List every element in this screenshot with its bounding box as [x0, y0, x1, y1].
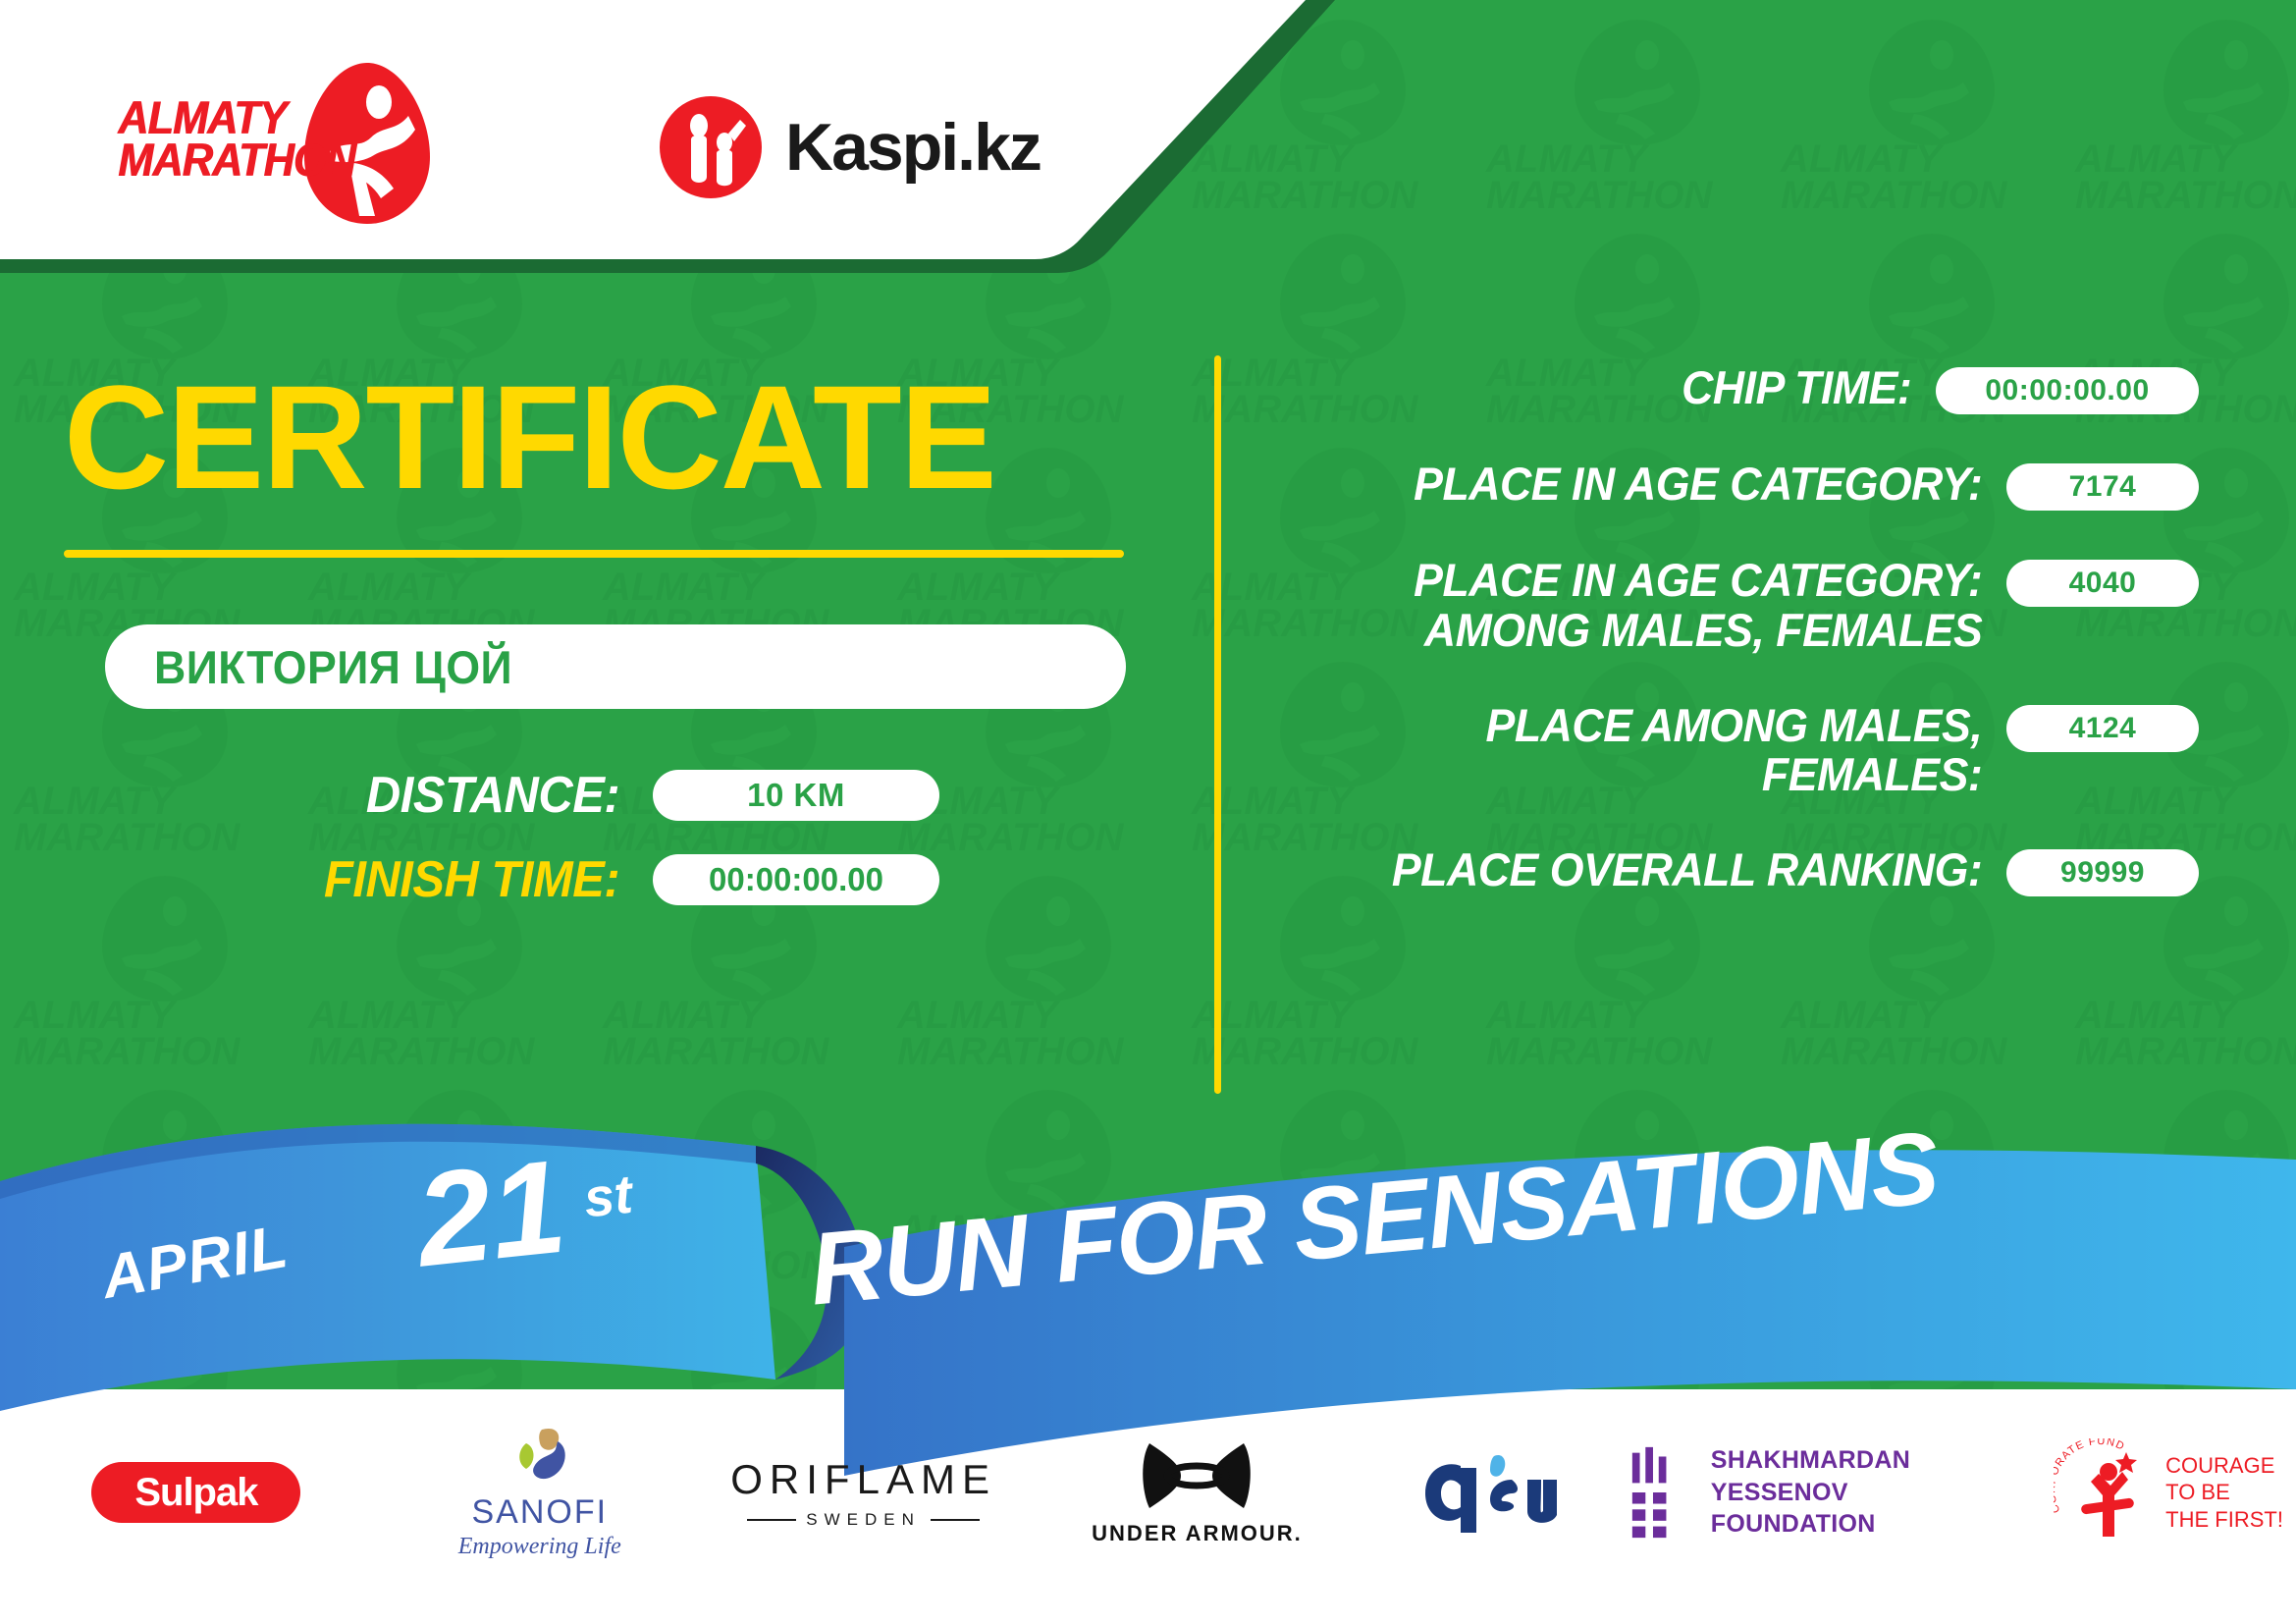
yessenov-line-1: SHAKHMARDAN YESSENOV	[1711, 1444, 2041, 1508]
place-age-category-value: 7174	[2006, 463, 2199, 511]
oriflame-sub-row: SWEDEN	[730, 1510, 996, 1530]
sponsor-oriflame: ORIFLAME SWEDEN	[687, 1424, 1041, 1561]
place-age-category-gender-value: 4040	[2006, 560, 2199, 607]
kaspi-logo: Kaspi.kz	[658, 94, 1041, 200]
sanofi-tagline: Empowering Life	[458, 1534, 621, 1560]
distance-label: DISTANCE:	[90, 766, 653, 825]
courage-fund-wordmark: COURAGE TO BE THE FIRST!	[2165, 1452, 2283, 1534]
sponsor-courage-fund: CORPORATE FUND COURAGE TO BE THE FIRST!	[2041, 1424, 2296, 1561]
oriflame-rule-left	[747, 1519, 796, 1521]
under-armour-logo: UNDER ARMOUR.	[1092, 1439, 1303, 1546]
distance-value: 10 KM	[653, 770, 939, 821]
title-underline	[64, 550, 1124, 558]
column-divider	[1214, 355, 1221, 1094]
page-title: CERTIFICATE	[54, 363, 1123, 511]
certificate-left-column: CERTIFICATE ВИКТОРИЯ ЦОЙ DISTANCE: 10 KM…	[54, 363, 1134, 909]
place-overall-value: 99999	[2006, 849, 2199, 896]
almau-logo	[1417, 1450, 1565, 1535]
sponsor-bar: Sulpak SANOFI Empowering Life ORIFLAME S…	[0, 1414, 2296, 1571]
yessenov-logo: SHAKHMARDAN YESSENOV FOUNDATION	[1629, 1444, 2041, 1541]
label-line-1: PLACE AMONG MALES,	[1486, 699, 1983, 751]
oriflame-wordmark: ORIFLAME	[730, 1456, 996, 1503]
finish-time-label: FINISH TIME:	[90, 850, 653, 909]
kaspi-wordmark: Kaspi.kz	[785, 109, 1041, 186]
under-armour-mark-icon	[1138, 1439, 1255, 1512]
participant-name-field: ВИКТОРИЯ ЦОЙ	[105, 624, 1126, 709]
yessenov-mark-icon	[1629, 1445, 1689, 1540]
logo-line-marathon: MARATHON	[118, 138, 355, 182]
place-among-gender-label: PLACE AMONG MALES, FEMALES:	[1304, 701, 2006, 801]
yessenov-line-2: FOUNDATION	[1711, 1508, 2041, 1541]
participant-name: ВИКТОРИЯ ЦОЙ	[154, 640, 512, 694]
courage-line-3: THE FIRST!	[2165, 1506, 2283, 1534]
oriflame-country: SWEDEN	[806, 1510, 921, 1530]
results-column: CHIP TIME: 00:00:00.00 PLACE IN AGE CATE…	[1266, 363, 2199, 942]
sulpak-logo: Sulpak	[91, 1462, 300, 1523]
under-armour-wordmark: UNDER ARMOUR.	[1092, 1521, 1303, 1546]
label-line-2: FEMALES:	[1304, 750, 1983, 800]
almaty-marathon-logo: ALMATY MARATHON	[118, 67, 432, 229]
courage-fund-mark-icon: CORPORATE FUND	[2054, 1438, 2156, 1546]
sponsor-almau	[1354, 1424, 1629, 1561]
label-line-1: PLACE IN AGE CATEGORY:	[1414, 554, 1982, 606]
sanofi-logo: SANOFI Empowering Life	[458, 1426, 621, 1560]
sanofi-mark-icon	[505, 1426, 575, 1487]
place-age-category-gender-row: PLACE IN AGE CATEGORY: AMONG MALES, FEMA…	[1266, 556, 2199, 656]
chip-time-value: 00:00:00.00	[1936, 367, 2199, 414]
sponsor-yessenov-foundation: SHAKHMARDAN YESSENOV FOUNDATION	[1629, 1424, 2041, 1561]
sanofi-wordmark: SANOFI	[458, 1493, 621, 1532]
certificate-detail-rows: DISTANCE: 10 KM FINISH TIME: 00:00:00.00	[54, 766, 1134, 909]
label-line-2: AMONG MALES, FEMALES	[1304, 606, 1983, 656]
logo-line-almaty: ALMATY	[118, 96, 355, 139]
place-age-category-row: PLACE IN AGE CATEGORY: 7174	[1266, 460, 2199, 511]
place-overall-label: PLACE OVERALL RANKING:	[1304, 845, 2006, 895]
chip-time-label: CHIP TIME:	[1300, 363, 1936, 413]
courage-fund-logo: CORPORATE FUND COURAGE TO BE THE FIRST!	[2054, 1438, 2283, 1546]
place-among-gender-row: PLACE AMONG MALES, FEMALES: 4124	[1266, 701, 2199, 801]
oriflame-rule-right	[931, 1519, 980, 1521]
courage-line-2: TO BE	[2165, 1479, 2283, 1506]
place-age-category-gender-label: PLACE IN AGE CATEGORY: AMONG MALES, FEMA…	[1304, 556, 2006, 656]
chip-time-row: CHIP TIME: 00:00:00.00	[1266, 363, 2199, 414]
courage-line-1: COURAGE	[2165, 1452, 2283, 1480]
distance-row: DISTANCE: 10 KM	[54, 766, 1134, 825]
place-among-gender-value: 4124	[2006, 705, 2199, 752]
yessenov-wordmark: SHAKHMARDAN YESSENOV FOUNDATION	[1711, 1444, 2041, 1541]
kaspi-people-icon	[658, 94, 764, 200]
sponsor-under-armour: UNDER ARMOUR.	[1041, 1424, 1355, 1561]
sponsor-sanofi: SANOFI Empowering Life	[393, 1424, 687, 1561]
finish-time-row: FINISH TIME: 00:00:00.00	[54, 850, 1134, 909]
almaty-marathon-wordmark: ALMATY MARATHON	[118, 96, 355, 182]
place-age-category-label: PLACE IN AGE CATEGORY:	[1304, 460, 2006, 510]
oriflame-logo: ORIFLAME SWEDEN	[730, 1456, 996, 1530]
place-overall-row: PLACE OVERALL RANKING: 99999	[1266, 845, 2199, 896]
finish-time-value: 00:00:00.00	[653, 854, 939, 905]
sponsor-sulpak: Sulpak	[0, 1424, 393, 1561]
